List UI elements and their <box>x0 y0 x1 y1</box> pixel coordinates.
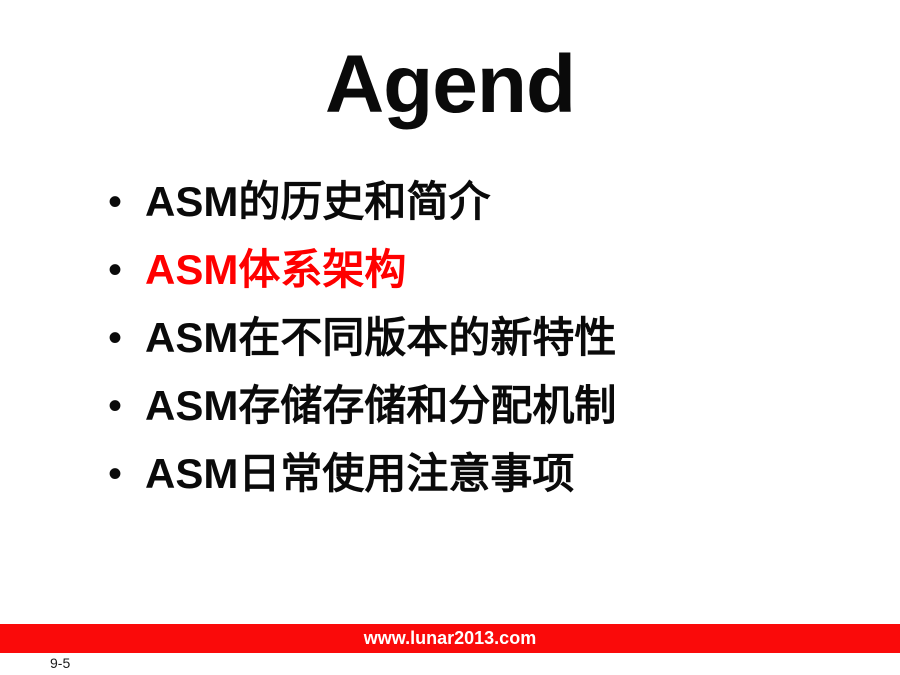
list-item-label: ASM在不同版本的新特性 <box>145 312 840 364</box>
footer-banner: www.lunar2013.com <box>0 624 900 653</box>
list-item: • ASM体系架构 <box>100 244 840 312</box>
bullet-dot-icon: • <box>100 312 145 364</box>
bullet-dot-icon: • <box>100 380 145 432</box>
presentation-slide: Agend • ASM的历史和简介 • ASM体系架构 • ASM在不同版本的新… <box>0 0 900 675</box>
list-item-label: ASM的历史和简介 <box>145 176 840 228</box>
bullet-dot-icon: • <box>100 244 145 296</box>
list-item: • ASM在不同版本的新特性 <box>100 312 840 380</box>
list-item: • ASM日常使用注意事项 <box>100 448 840 516</box>
list-item-label: ASM存储存储和分配机制 <box>145 380 840 432</box>
bullet-dot-icon: • <box>100 176 145 228</box>
bullet-dot-icon: • <box>100 448 145 500</box>
slide-page-number: 9-5 <box>50 654 70 672</box>
list-item-label-active: ASM体系架构 <box>145 244 840 296</box>
footer-website-url: www.lunar2013.com <box>0 624 900 653</box>
list-item: • ASM的历史和简介 <box>100 176 840 244</box>
agenda-bullet-list: • ASM的历史和简介 • ASM体系架构 • ASM在不同版本的新特性 • A… <box>100 176 840 516</box>
page-title: Agend <box>0 44 900 126</box>
list-item: • ASM存储存储和分配机制 <box>100 380 840 448</box>
list-item-label: ASM日常使用注意事项 <box>145 448 840 500</box>
